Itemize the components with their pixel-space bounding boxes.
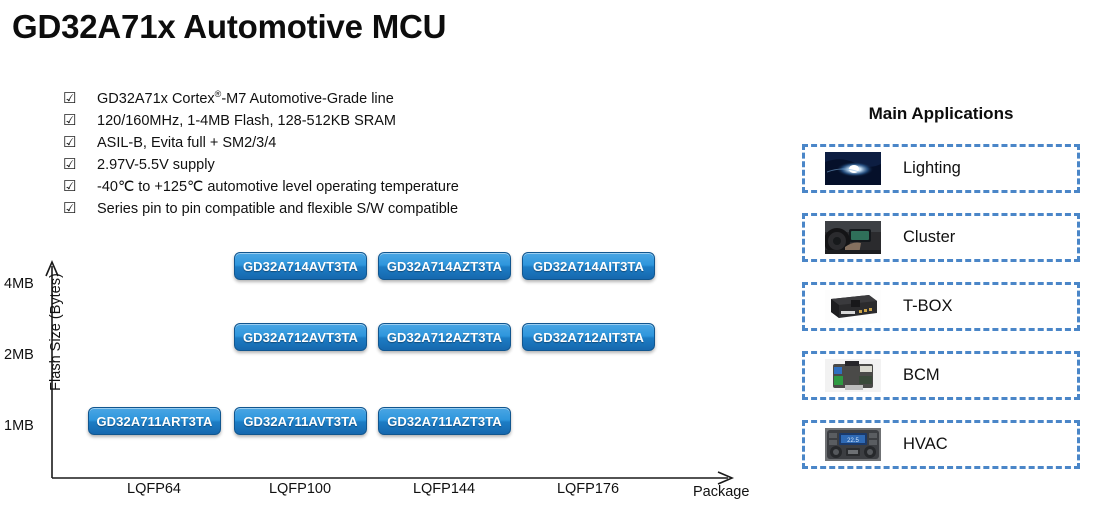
part-number-chip[interactable]: GD32A712AZT3TA xyxy=(378,323,511,351)
main-applications-panel: Main Applications Lighting xyxy=(802,104,1080,489)
part-number-chip[interactable]: GD32A712AVT3TA xyxy=(234,323,367,351)
part-number-chip[interactable]: GD32A714AZT3TA xyxy=(378,252,511,280)
feature-item-label: 120/160MHz, 1-4MB Flash, 128-512KB SRAM xyxy=(97,110,396,132)
feature-item-label: -40℃ to +125℃ automotive level operating… xyxy=(97,176,459,198)
application-card-hvac[interactable]: 22.5 HVAC xyxy=(802,420,1080,469)
x-tick-label-lqfp100: LQFP100 xyxy=(250,481,350,497)
part-number-chip[interactable]: GD32A711ART3TA xyxy=(88,407,221,435)
page-title: GD32A71x Automotive MCU xyxy=(12,8,446,46)
application-label: T-BOX xyxy=(903,297,953,316)
svg-text:22.5: 22.5 xyxy=(847,438,859,444)
x-tick-label-lqfp144: LQFP144 xyxy=(394,481,494,497)
feature-item-label: ASIL-B, Evita full + SM2/3/4 xyxy=(97,132,276,154)
package-flash-chart: Flash Size (Bytes) 4MB 2MB 1MB LQFP64 LQ… xyxy=(0,236,790,513)
checkbox-checked-icon: ☑ xyxy=(63,176,97,198)
part-number-chip[interactable]: GD32A711AVT3TA xyxy=(234,407,367,435)
part-number-chip[interactable]: GD32A711AZT3TA xyxy=(378,407,511,435)
x-axis-title: Package xyxy=(693,484,749,500)
application-label: Lighting xyxy=(903,159,961,178)
x-tick-label-lqfp176: LQFP176 xyxy=(538,481,638,497)
y-tick-label-1mb: 1MB xyxy=(4,418,48,434)
feature-item: ☑ GD32A71x Cortex®-M7 Automotive-Grade l… xyxy=(63,88,623,110)
hvac-panel-photo: 22.5 xyxy=(825,428,881,461)
checkbox-checked-icon: ☑ xyxy=(63,198,97,220)
feature-item-label: 2.97V-5.5V supply xyxy=(97,154,215,176)
checkbox-checked-icon: ☑ xyxy=(63,132,97,154)
application-label: BCM xyxy=(903,366,940,385)
application-card-cluster[interactable]: Cluster xyxy=(802,213,1080,262)
part-number-chip[interactable]: GD32A712AIT3TA xyxy=(522,323,655,351)
application-card-bcm[interactable]: BCM xyxy=(802,351,1080,400)
x-tick-label-lqfp64: LQFP64 xyxy=(104,481,204,497)
feature-item: ☑ 120/160MHz, 1-4MB Flash, 128-512KB SRA… xyxy=(63,110,623,132)
feature-item: ☑ ASIL-B, Evita full + SM2/3/4 xyxy=(63,132,623,154)
body-control-module-photo xyxy=(825,359,881,392)
application-card-lighting[interactable]: Lighting xyxy=(802,144,1080,193)
checkbox-checked-icon: ☑ xyxy=(63,154,97,176)
part-number-chip[interactable]: GD32A714AVT3TA xyxy=(234,252,367,280)
feature-item: ☑ Series pin to pin compatible and flexi… xyxy=(63,198,623,220)
application-label: HVAC xyxy=(903,435,948,454)
y-tick-label-2mb: 2MB xyxy=(4,347,48,363)
main-applications-title: Main Applications xyxy=(802,104,1080,124)
y-axis-title: Flash Size (Bytes) xyxy=(48,262,64,402)
application-label: Cluster xyxy=(903,228,955,247)
telematics-box-photo xyxy=(825,290,881,323)
headlight-photo xyxy=(825,152,881,185)
checkbox-checked-icon: ☑ xyxy=(63,110,97,132)
application-card-tbox[interactable]: T-BOX xyxy=(802,282,1080,331)
feature-list: ☑ GD32A71x Cortex®-M7 Automotive-Grade l… xyxy=(63,88,623,220)
car-cockpit-photo xyxy=(825,221,881,254)
part-number-chip[interactable]: GD32A714AIT3TA xyxy=(522,252,655,280)
feature-item-label: GD32A71x Cortex®-M7 Automotive-Grade lin… xyxy=(97,88,394,110)
y-tick-label-4mb: 4MB xyxy=(4,276,48,292)
checkbox-checked-icon: ☑ xyxy=(63,88,97,110)
feature-item: ☑ -40℃ to +125℃ automotive level operati… xyxy=(63,176,623,198)
feature-item: ☑ 2.97V-5.5V supply xyxy=(63,154,623,176)
feature-item-label: Series pin to pin compatible and flexibl… xyxy=(97,198,458,220)
